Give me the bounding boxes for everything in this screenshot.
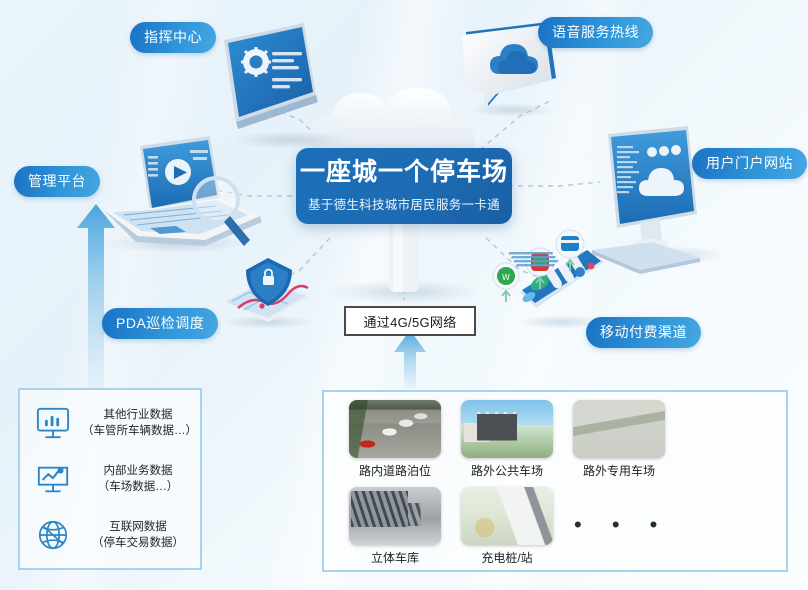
data-source-row-1[interactable]: 其他行业数据 （车管所车辆数据…） [34,406,194,440]
data-source-row-2[interactable]: 内部业务数据 （车场数据…） [34,462,194,496]
scene-ellipsis: • • • [574,512,669,538]
scene-photo-public-lot [461,400,553,458]
scene-caption: 充电桩/站 [461,551,553,565]
data-source-title: 内部业务数据 [82,463,194,479]
page-subtitle: 基于德生科技城市居民服务一卡通 [308,194,500,213]
diagram-canvas: W [0,0,808,590]
scene-photo-private-lot [573,400,665,458]
center-title-banner: 一座城一个停车场 基于德生科技城市居民服务一卡通 [296,148,512,224]
data-source-panel: 其他行业数据 （车管所车辆数据…） 内部业务数据 （车场数据…） [18,388,202,570]
label-voice-hotline[interactable]: 语音服务热线 [538,17,653,48]
monitor-line-chart-icon [34,462,72,496]
scene-caption: 立体车库 [349,551,441,565]
data-source-detail: （停车交易数据） [82,535,194,551]
scene-photo-stereo-garage [349,487,441,545]
scene-tile[interactable]: 路外公共车场 [461,400,553,478]
data-flow-arrow-left [77,204,115,388]
data-flow-arrow-center [394,330,426,388]
data-source-row-3[interactable]: 互联网数据 （停车交易数据） [34,518,194,552]
label-pda-patrol[interactable]: PDA巡检调度 [102,308,218,339]
network-box: 通过4G/5G网络 [344,306,476,336]
scene-photo-charging-station [461,487,553,545]
data-source-detail: （车场数据…） [82,479,194,495]
scene-tile[interactable]: 立体车库 [349,487,441,565]
scene-caption: 路外专用车场 [573,464,665,478]
scene-caption: 路内道路泊位 [349,464,441,478]
scene-tile[interactable]: 路内道路泊位 [349,400,441,478]
globe-network-icon [34,518,72,552]
label-mobile-payment[interactable]: 移动付费渠道 [586,317,701,348]
data-source-detail: （车管所车辆数据…） [82,423,194,439]
scene-tile[interactable]: 充电桩/站 [461,487,553,565]
scene-photo-road-parking [349,400,441,458]
label-management-platform[interactable]: 管理平台 [14,166,100,197]
data-source-title: 互联网数据 [82,519,194,535]
data-source-title: 其他行业数据 [82,407,194,423]
label-user-portal[interactable]: 用户门户网站 [692,148,807,179]
scene-tile[interactable]: 路外专用车场 [573,400,665,478]
svg-text:W: W [502,273,510,282]
smartphone-app-illustration: W [493,230,604,329]
shield-lock-map-illustration [222,258,314,329]
monitor-bar-chart-icon [34,406,72,440]
laptop-magnifier-illustration [103,136,262,253]
page-title: 一座城一个停车场 [300,159,508,187]
label-command-center[interactable]: 指挥中心 [130,22,216,53]
scene-caption: 路外公共车场 [461,464,553,478]
